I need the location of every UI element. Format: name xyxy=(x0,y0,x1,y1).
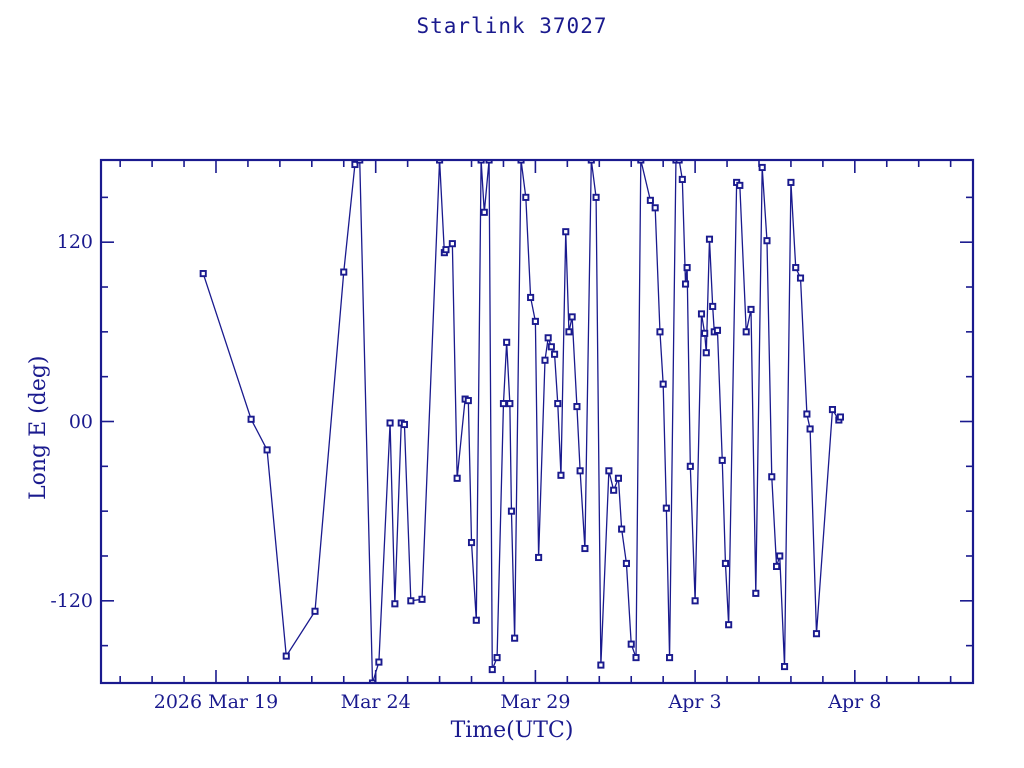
data-point-marker xyxy=(563,229,568,234)
data-point-marker xyxy=(598,662,603,667)
data-point-marker xyxy=(284,654,289,659)
data-point-marker xyxy=(392,601,397,606)
data-point-marker xyxy=(726,622,731,627)
data-point-marker xyxy=(376,659,381,664)
data-point-marker xyxy=(777,553,782,558)
y-tick-label: 120 xyxy=(33,231,93,253)
data-point-marker xyxy=(804,411,809,416)
data-point-marker xyxy=(798,275,803,280)
data-point-marker xyxy=(814,631,819,636)
x-axis-title: Time(UTC) xyxy=(0,718,1024,743)
data-point-marker xyxy=(542,358,547,363)
data-point-marker xyxy=(523,195,528,200)
data-point-marker xyxy=(552,352,557,357)
data-point-marker xyxy=(606,468,611,473)
data-point-marker xyxy=(578,468,583,473)
data-point-marker xyxy=(808,426,813,431)
data-point-marker xyxy=(341,269,346,274)
data-point-marker xyxy=(793,265,798,270)
data-point-marker xyxy=(249,417,254,422)
data-point-marker xyxy=(723,561,728,566)
data-point-marker xyxy=(533,319,538,324)
data-point-marker xyxy=(265,447,270,452)
data-point-marker xyxy=(693,598,698,603)
data-point-marker xyxy=(570,314,575,319)
data-point-marker xyxy=(764,238,769,243)
data-point-marker xyxy=(688,464,693,469)
data-point-marker xyxy=(710,304,715,309)
x-tick-label: Apr 8 xyxy=(755,691,955,713)
data-series-group xyxy=(201,157,843,685)
data-point-marker xyxy=(490,667,495,672)
data-point-marker xyxy=(419,597,424,602)
data-point-marker xyxy=(455,476,460,481)
data-point-marker xyxy=(558,473,563,478)
data-point-marker xyxy=(507,401,512,406)
data-point-marker xyxy=(443,247,448,252)
data-point-marker xyxy=(657,329,662,334)
data-point-marker xyxy=(546,335,551,340)
data-point-marker xyxy=(466,398,471,403)
data-point-marker xyxy=(402,422,407,427)
data-point-marker xyxy=(788,180,793,185)
data-point-marker xyxy=(593,195,598,200)
data-point-marker xyxy=(707,237,712,242)
data-point-marker xyxy=(469,540,474,545)
data-point-marker xyxy=(312,609,317,614)
longitude-vs-time-plot xyxy=(0,0,1024,768)
data-point-marker xyxy=(715,328,720,333)
data-point-marker xyxy=(201,271,206,276)
data-point-marker xyxy=(720,458,725,463)
data-point-marker xyxy=(685,265,690,270)
data-point-marker xyxy=(753,591,758,596)
data-point-marker xyxy=(830,407,835,412)
data-point-marker xyxy=(633,655,638,660)
data-point-marker xyxy=(582,546,587,551)
data-point-marker xyxy=(555,401,560,406)
data-point-marker xyxy=(744,329,749,334)
data-point-marker xyxy=(504,340,509,345)
data-point-marker xyxy=(702,331,707,336)
y-tick-label: -120 xyxy=(33,590,93,612)
data-point-marker xyxy=(574,404,579,409)
data-point-marker xyxy=(450,241,455,246)
data-point-marker xyxy=(494,655,499,660)
data-point-marker xyxy=(648,198,653,203)
data-point-marker xyxy=(408,598,413,603)
data-point-marker xyxy=(619,526,624,531)
data-point-marker xyxy=(387,420,392,425)
data-point-marker xyxy=(737,183,742,188)
data-point-marker xyxy=(611,488,616,493)
data-point-marker xyxy=(474,618,479,623)
data-point-marker xyxy=(482,210,487,215)
data-point-marker xyxy=(528,295,533,300)
data-point-marker xyxy=(683,281,688,286)
data-point-marker xyxy=(667,655,672,660)
data-point-marker xyxy=(699,311,704,316)
data-point-marker xyxy=(680,177,685,182)
data-point-marker xyxy=(782,664,787,669)
data-point-marker xyxy=(748,307,753,312)
data-point-marker xyxy=(616,476,621,481)
data-point-marker xyxy=(664,506,669,511)
data-point-marker xyxy=(704,350,709,355)
data-point-marker xyxy=(549,344,554,349)
data-point-marker xyxy=(501,401,506,406)
y-tick-label: 00 xyxy=(33,411,93,433)
data-point-marker xyxy=(509,509,514,514)
data-point-marker xyxy=(661,382,666,387)
data-line xyxy=(203,160,840,683)
data-point-marker xyxy=(760,165,765,170)
data-point-marker xyxy=(624,561,629,566)
data-point-marker xyxy=(774,564,779,569)
data-point-marker xyxy=(653,205,658,210)
data-point-marker xyxy=(838,414,843,419)
data-point-marker xyxy=(512,636,517,641)
data-point-marker xyxy=(769,474,774,479)
data-point-marker xyxy=(629,642,634,647)
data-point-marker xyxy=(566,329,571,334)
data-point-marker xyxy=(536,555,541,560)
chart-page: Starlink 37027 Long E (deg) Time(UTC) 12… xyxy=(0,0,1024,768)
